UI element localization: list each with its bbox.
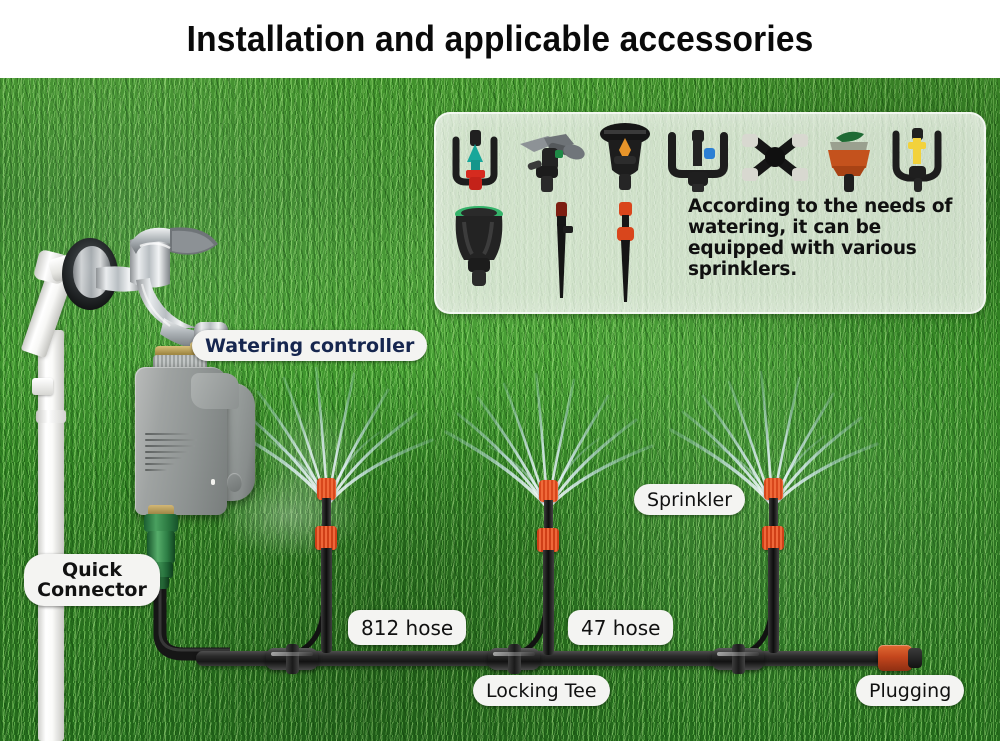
accessory-icon-impact-sprinkler-grey[interactable]	[514, 122, 586, 194]
accessory-icon-nozzle-green-top[interactable]	[448, 202, 510, 298]
accessories-panel: According to the needs of watering, it c…	[434, 112, 986, 314]
sprinkler-stake-left	[313, 478, 339, 658]
sprinkler-neck	[544, 500, 553, 530]
title-bar: Installation and applicable accessories	[0, 0, 1000, 78]
locking-tee-middle	[488, 648, 540, 670]
label-hose-812-text: 812 hose	[361, 616, 453, 640]
accessory-icon-stake-sprinkler-orange[interactable]	[612, 202, 638, 308]
accessory-row-top	[444, 122, 946, 194]
accessory-icon-bracket-sprinkler-blue[interactable]	[664, 122, 732, 194]
accessory-icon-rotor-sprinkler-yellow[interactable]	[888, 122, 946, 194]
locking-tee-left	[266, 648, 318, 670]
accessory-icon-stake-dripper-darkred[interactable]	[548, 202, 574, 308]
label-watering-controller: Watering controller	[192, 330, 427, 361]
controller-status-led	[211, 479, 215, 485]
label-hose-812: 812 hose	[348, 610, 466, 645]
infographic-canvas: Installation and applicable accessories	[0, 0, 1000, 741]
sprinkler-stake-shaft	[543, 550, 554, 655]
label-hose-47-text: 47 hose	[581, 616, 660, 640]
label-plugging-text: Plugging	[869, 680, 951, 702]
controller-power-button[interactable]	[227, 473, 242, 492]
accessory-icon-cross-dripper[interactable]	[740, 122, 810, 194]
sprinkler-stake-shaft	[321, 548, 332, 653]
label-plugging: Plugging	[856, 675, 964, 706]
sprinkler-stake-right	[760, 478, 786, 658]
pvc-pipe-coupling	[36, 410, 66, 423]
plugging-end-cap	[878, 645, 912, 671]
sprinkler-neck	[769, 498, 778, 528]
locking-tee-right	[712, 648, 764, 670]
panel-description: According to the needs of watering, it c…	[688, 196, 976, 280]
page-title: Installation and applicable accessories	[187, 18, 814, 60]
label-watering-controller-text: Watering controller	[205, 335, 414, 357]
sprinkler-nozzle-cap	[539, 480, 558, 502]
accessory-row-bottom	[448, 202, 638, 308]
label-quick-connector-text: Quick Connector	[36, 560, 148, 600]
sprinkler-adjuster-cap	[537, 528, 559, 552]
accessory-icon-fan-sprinkler-orange[interactable]	[594, 122, 656, 194]
label-quick-connector: Quick Connector	[24, 554, 160, 606]
sprinkler-stake-middle	[535, 480, 561, 660]
quick-connector-collar	[144, 514, 178, 532]
sprinkler-adjuster-cap	[315, 526, 337, 550]
watering-controller-device[interactable]	[135, 355, 257, 525]
label-locking-tee-text: Locking Tee	[486, 680, 597, 702]
label-sprinkler-text: Sprinkler	[647, 489, 732, 511]
pvc-pipe-clip	[32, 378, 53, 395]
label-hose-47: 47 hose	[568, 610, 673, 645]
label-locking-tee: Locking Tee	[473, 675, 610, 706]
controller-vent-lines	[145, 433, 201, 473]
accessory-icon-adjustable-dripper-orange[interactable]	[818, 122, 880, 194]
sprinkler-neck	[322, 498, 331, 528]
sprinkler-stake-shaft	[768, 548, 779, 653]
sprinkler-adjuster-cap	[762, 526, 784, 550]
sprinkler-nozzle-cap	[764, 478, 783, 500]
controller-shoulder	[191, 373, 239, 409]
label-sprinkler: Sprinkler	[634, 484, 745, 515]
accessory-icon-bracket-sprinkler-teal[interactable]	[444, 122, 506, 194]
sprinkler-nozzle-cap	[317, 478, 336, 500]
